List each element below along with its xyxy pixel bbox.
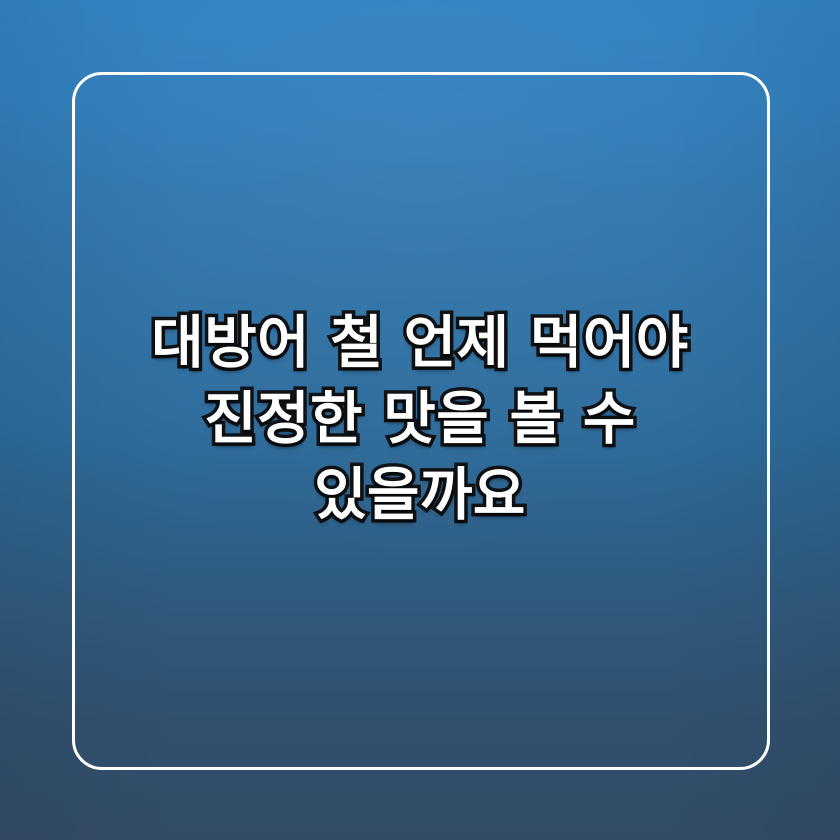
page-title: 대방어 철 언제 먹어야 진정한 맛을 볼 수 있을까요 (120, 306, 720, 533)
title-block: 대방어 철 언제 먹어야 진정한 맛을 볼 수 있을까요 (0, 0, 840, 840)
thumbnail-card: 대방어 철 언제 먹어야 진정한 맛을 볼 수 있을까요 (0, 0, 840, 840)
